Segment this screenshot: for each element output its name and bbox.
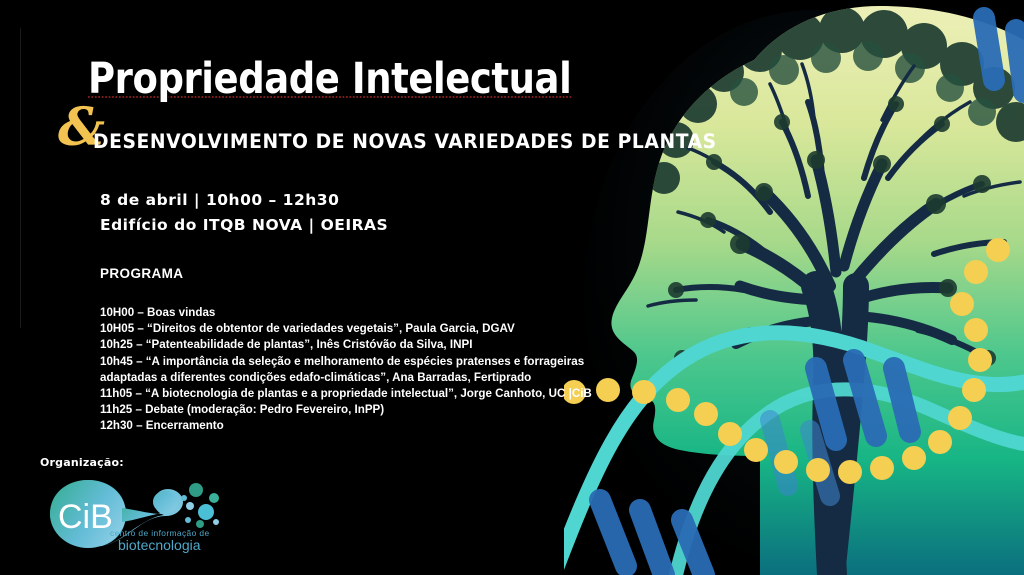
programme-item: 10H00 – Boas vindas [100, 305, 600, 321]
programme-item: 10H05 – “Direitos de obtentor de varieda… [100, 321, 600, 337]
programme-item: 11h05 – “A biotecnologia de plantas e a … [100, 386, 600, 402]
cib-logo: CiB centro de informação de biotecnologi… [38, 474, 228, 554]
event-details: 8 de abril | 10h00 – 12h30 Edifício do I… [100, 188, 388, 238]
logo-wordmark: CiB [58, 498, 113, 536]
logo-dot-cluster [181, 483, 219, 528]
title-block: Propriedade Intelectual [88, 58, 608, 101]
text-column: Propriedade Intelectual & DESENVOLVIMENT… [0, 0, 620, 575]
logo-tagline-line2: biotecnologia [118, 537, 201, 553]
panel-divider-vertical [20, 28, 21, 328]
programme-item: 11h25 – Debate (moderação: Pedro Feverei… [100, 402, 600, 418]
artwork-head-tree-dna [564, 0, 1024, 575]
page-title: Propriedade Intelectual [88, 58, 535, 101]
event-date: 8 de abril | 10h00 – 12h30 [100, 188, 388, 213]
page-subtitle: DESENVOLVIMENTO DE NOVAS VARIEDADES DE P… [93, 130, 717, 153]
programme-list: 10H00 – Boas vindas 10H05 – “Direitos de… [100, 305, 600, 435]
logo-blob-neck [122, 491, 178, 522]
programme-item: 10h45 – “A importância da seleção e melh… [100, 354, 600, 386]
programme-heading: PROGRAMA [100, 266, 183, 281]
event-venue: Edifício do ITQB NOVA | OEIRAS [100, 213, 388, 238]
programme-item: 10h25 – “Patenteabilidade de plantas”, I… [100, 337, 600, 353]
organisation-label: Organização: [40, 456, 124, 469]
programme-item: 12h30 – Encerramento [100, 418, 600, 434]
event-poster: Propriedade Intelectual & DESENVOLVIMENT… [0, 0, 1024, 575]
